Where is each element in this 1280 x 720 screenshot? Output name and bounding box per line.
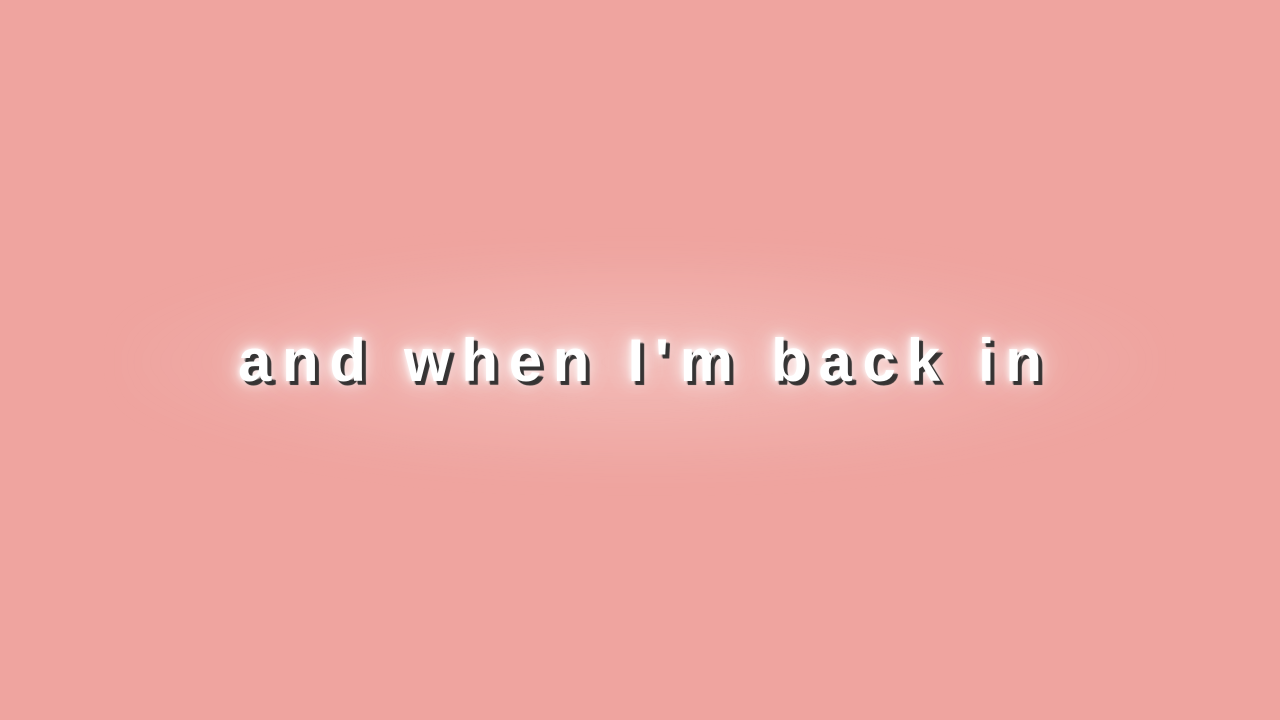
lyric-layer: and when I'm back in [0, 0, 1280, 720]
lyric-text: and when I'm back in [227, 331, 1052, 391]
video-frame: and when I'm back in [0, 0, 1280, 720]
